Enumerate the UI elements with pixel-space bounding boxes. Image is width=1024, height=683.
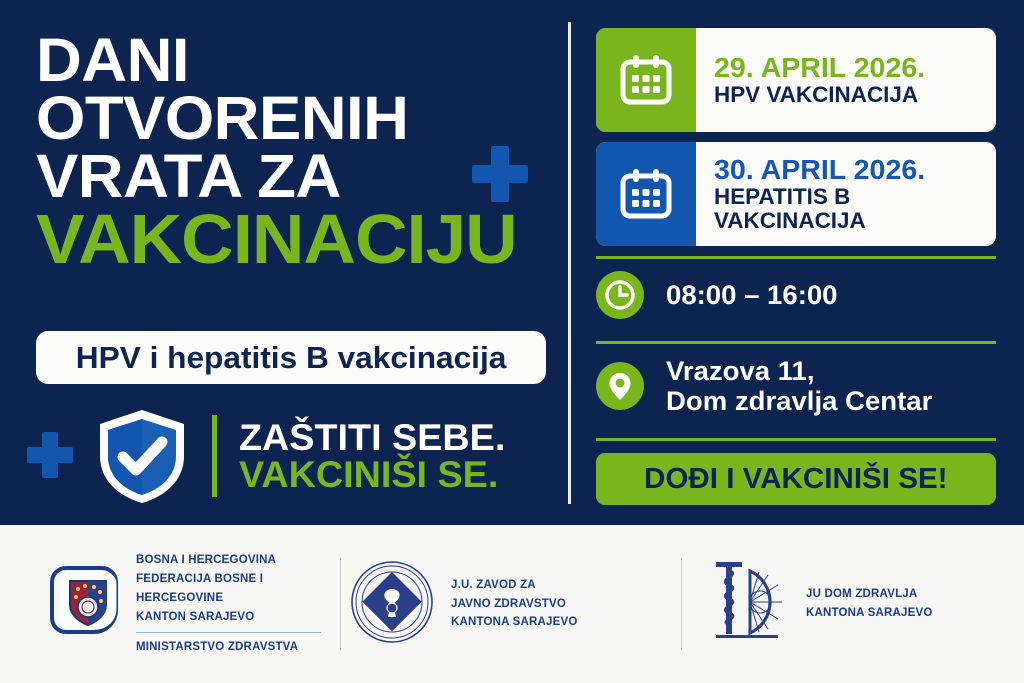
cta-button[interactable]: DOĐI I VAKCINIŠI SE! xyxy=(596,453,996,505)
left-column: DANI OTVORENIH VRATA ZA VAKCINACIJU HPV … xyxy=(0,0,568,525)
subtitle-text: HPV i hepatitis B vakcinacija xyxy=(76,340,507,376)
footer-rule xyxy=(136,632,321,633)
column-divider xyxy=(568,22,571,504)
location-line-2: Dom zdravlja Centar xyxy=(666,386,932,416)
slogan-row: ZAŠTITI SEBE. VAKCINIŠI SE. xyxy=(90,404,500,508)
subtitle-pill: HPV i hepatitis B vakcinacija xyxy=(36,331,546,384)
schedule-label: HPV VAKCINACIJA xyxy=(714,83,996,107)
location-value: Vrazova 11, Dom zdravlja Centar xyxy=(666,356,932,416)
footer-org-ministry: BOSNA I HERCEGOVINA FEDERACIJA BOSNE I H… xyxy=(0,554,340,654)
cta-label: DOĐI I VAKCINIŠI SE! xyxy=(644,463,948,496)
vaccination-open-days-poster: DANI OTVORENIH VRATA ZA VAKCINACIJU HPV … xyxy=(0,0,1024,683)
slogan-text: ZAŠTITI SEBE. VAKCINIŠI SE. xyxy=(239,419,500,493)
footer-org-text: JU DOM ZDRAVLJA KANTONA SARAJEVO xyxy=(806,585,933,623)
footer-line: FEDERACIJA BOSNE I HERCEGOVINE xyxy=(136,570,340,608)
footer-line: KANTONA SARAJEVO xyxy=(451,613,578,632)
slogan-divider xyxy=(212,415,217,497)
schedule-date: 30. APRIL 2026. xyxy=(714,155,996,184)
time-value: 08:00 – 16:00 xyxy=(666,280,838,310)
location-row: Vrazova 11, Dom zdravlja Centar xyxy=(596,344,996,428)
map-pin-icon xyxy=(596,362,644,410)
schedule-card-hepatitis-b: 30. APRIL 2026. HEPATITIS B VAKCINACIJA xyxy=(596,142,996,246)
footer-line: KANTONA SARAJEVO xyxy=(806,604,933,623)
footer-line: KANTON SARAJEVO xyxy=(136,608,340,627)
footer-line: JU DOM ZDRAVLJA xyxy=(806,585,933,604)
footer-org-institute: J.U. ZAVOD ZA JAVNO ZDRAVSTVO KANTONA SA… xyxy=(341,554,681,654)
location-line-1: Vrazova 11, xyxy=(666,356,815,386)
schedule-date: 29. APRIL 2026. xyxy=(714,53,996,82)
footer-line: J.U. ZAVOD ZA xyxy=(451,576,578,595)
right-column: 29. APRIL 2026. HPV VAKCINACIJA xyxy=(596,28,996,505)
slogan-line-1: ZAŠTITI SEBE. xyxy=(239,419,505,456)
footer-line: JAVNO ZDRAVSTVO xyxy=(451,595,578,614)
page-title: DANI OTVORENIH VRATA ZA VAKCINACIJU xyxy=(36,32,546,272)
divider-rule xyxy=(596,438,996,441)
calendar-icon xyxy=(596,142,696,246)
schedule-card-text: 30. APRIL 2026. HEPATITIS B VAKCINACIJA xyxy=(696,142,996,246)
schedule-label: HEPATITIS B VAKCINACIJA xyxy=(714,185,996,233)
footer-subline: MINISTARSTVO ZDRAVSTVA xyxy=(136,638,340,657)
poster-main-area: DANI OTVORENIH VRATA ZA VAKCINACIJU HPV … xyxy=(0,0,1024,525)
footer-line: BOSNA I HERCEGOVINA xyxy=(136,551,340,570)
medical-cross-small-icon xyxy=(27,432,73,478)
calendar-icon xyxy=(596,28,696,132)
headline-line-3: VAKCINACIJU xyxy=(36,206,566,273)
footer-org-text: J.U. ZAVOD ZA JAVNO ZDRAVSTVO KANTONA SA… xyxy=(451,576,578,633)
footer-org-text: BOSNA I HERCEGOVINA FEDERACIJA BOSNE I H… xyxy=(136,551,340,657)
footer-org-health-center: JU DOM ZDRAVLJA KANTONA SARAJEVO xyxy=(682,554,1012,654)
slogan-line-2: VAKCINIŠI SE. xyxy=(239,456,505,493)
rod-of-asclepius-icon xyxy=(702,559,790,650)
time-row: 08:00 – 16:00 xyxy=(596,259,996,331)
headline-line-1: DANI OTVORENIH xyxy=(36,32,566,148)
clock-icon xyxy=(596,271,644,319)
shield-check-icon xyxy=(90,404,194,508)
public-health-institute-seal-icon xyxy=(349,559,435,650)
bih-coat-of-arms-icon xyxy=(48,562,120,647)
medical-cross-icon xyxy=(472,146,528,202)
footer-logos: BOSNA I HERCEGOVINA FEDERACIJA BOSNE I H… xyxy=(0,525,1024,683)
schedule-card-text: 29. APRIL 2026. HPV VAKCINACIJA xyxy=(696,28,996,132)
schedule-card-hpv: 29. APRIL 2026. HPV VAKCINACIJA xyxy=(596,28,996,132)
